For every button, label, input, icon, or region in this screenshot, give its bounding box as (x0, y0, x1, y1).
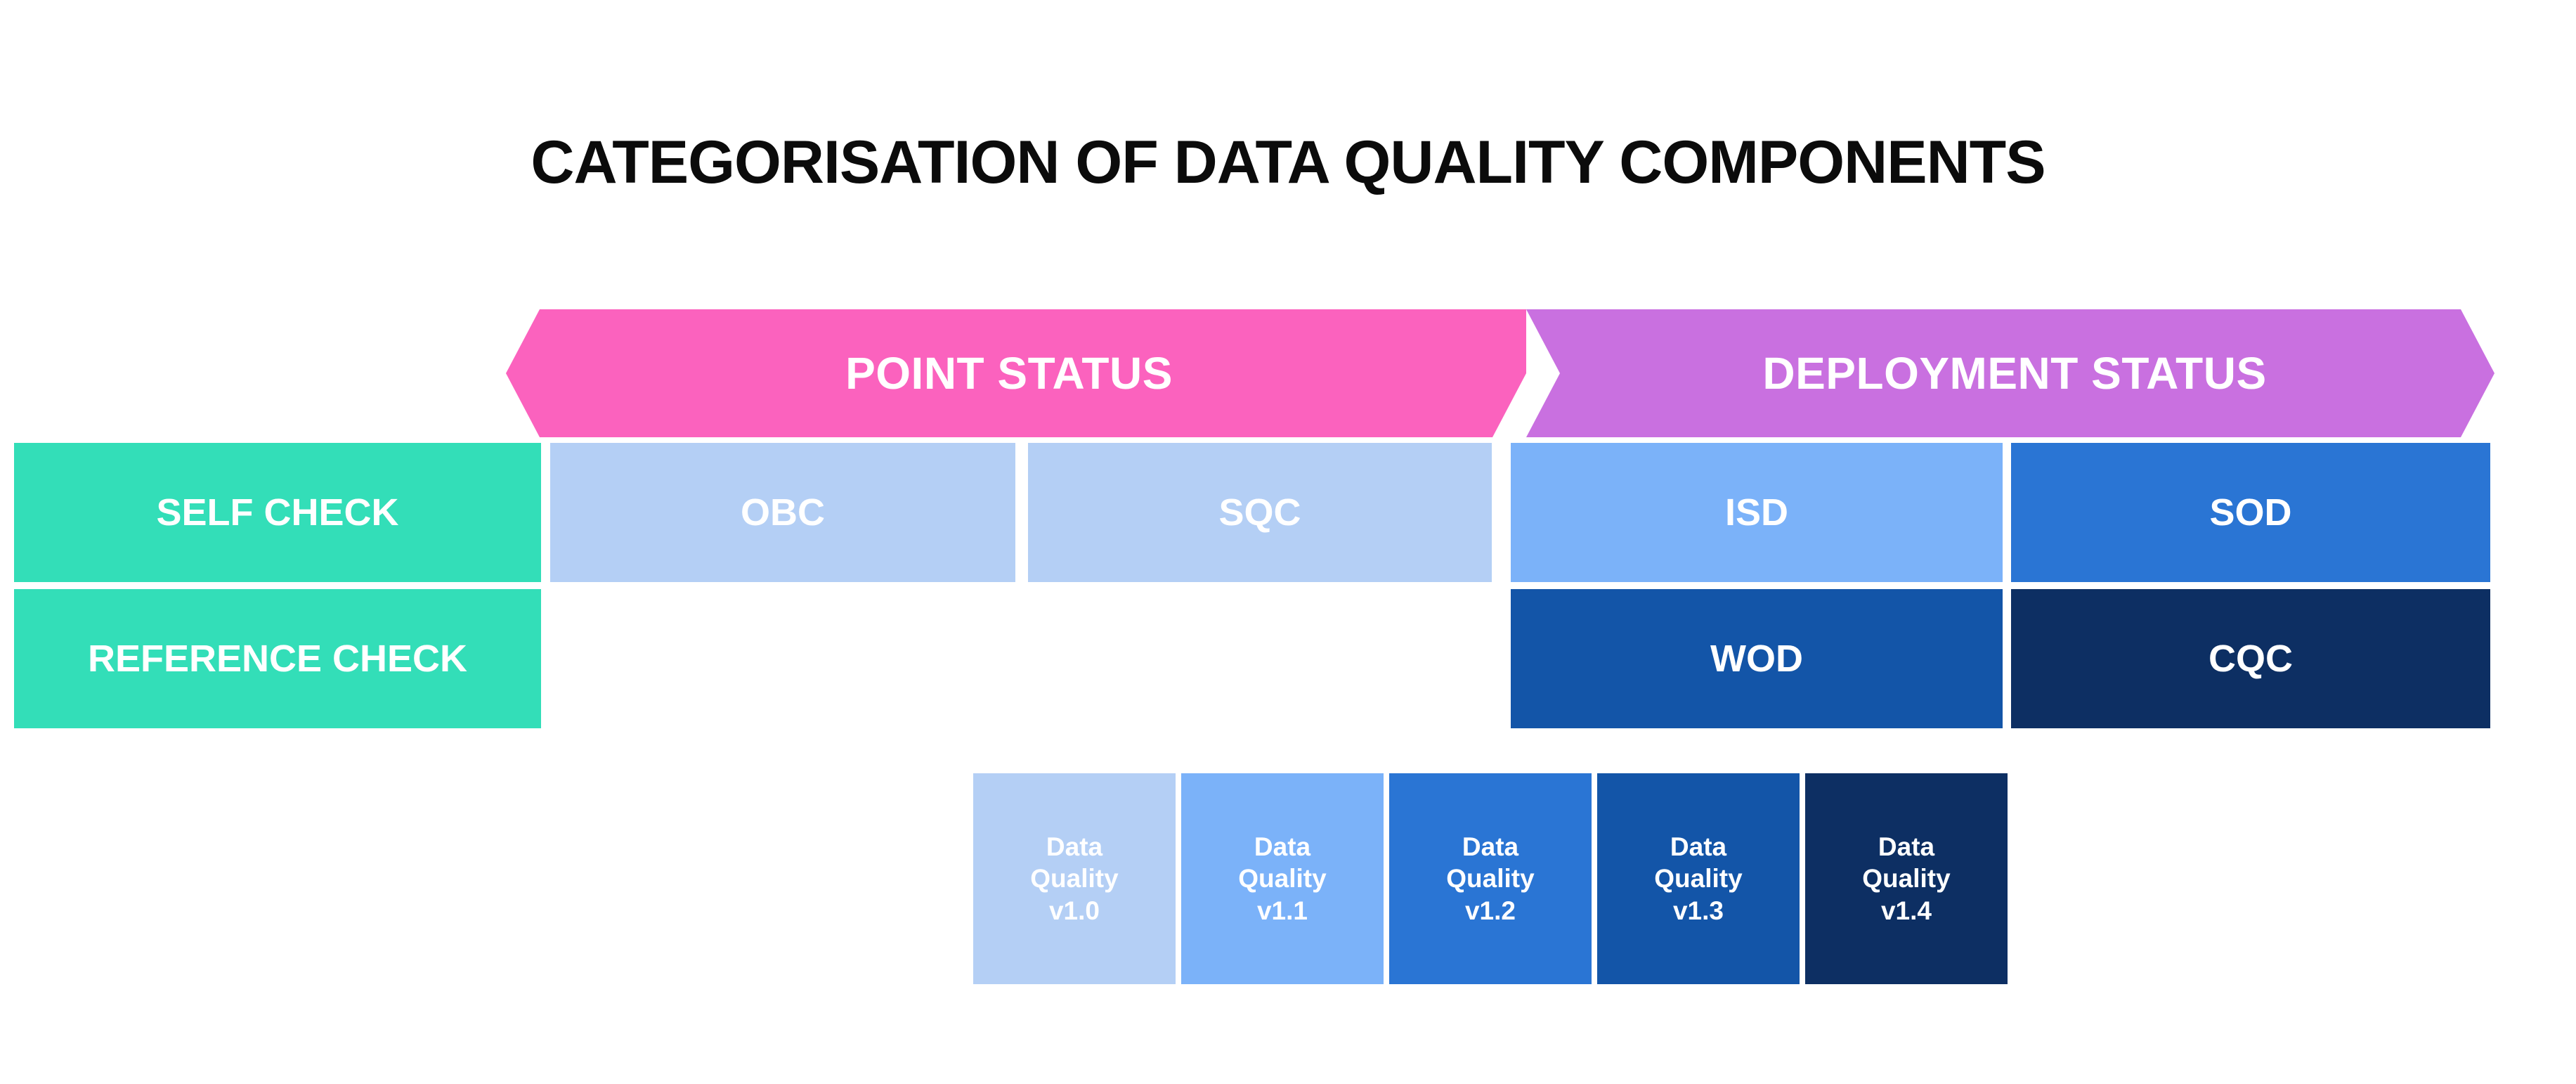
legend: Data Quality v1.0 Data Quality v1.1 Data… (973, 773, 2008, 984)
legend-item-v1-3-line1: Data (1670, 831, 1726, 863)
banner-point-status: POINT STATUS (506, 309, 1526, 437)
cell-sqc: SQC (1028, 443, 1492, 582)
diagram-canvas: CATEGORISATION OF DATA QUALITY COMPONENT… (0, 0, 2576, 1084)
cell-obc-label: OBC (741, 491, 825, 534)
legend-item-v1-2-line3: v1.2 (1465, 895, 1516, 927)
cell-sqc-label: SQC (1218, 491, 1301, 534)
row-header-reference-check: REFERENCE CHECK (14, 589, 541, 728)
legend-item-v1-0-line1: Data (1046, 831, 1102, 863)
page-title: CATEGORISATION OF DATA QUALITY COMPONENT… (0, 128, 2576, 198)
legend-item-v1-4: Data Quality v1.4 (1805, 773, 2008, 984)
banner-deployment-status: DEPLOYMENT STATUS (1526, 309, 2494, 437)
banner-point-status-label: POINT STATUS (845, 347, 1173, 399)
legend-item-v1-1-line1: Data (1254, 831, 1310, 863)
cell-sod: SOD (2011, 443, 2490, 582)
row-header-reference-check-label: REFERENCE CHECK (88, 637, 467, 680)
legend-item-v1-4-line2: Quality (1862, 863, 1950, 894)
legend-item-v1-3-line3: v1.3 (1673, 895, 1724, 927)
cell-wod: WOD (1511, 589, 2003, 728)
legend-item-v1-3: Data Quality v1.3 (1597, 773, 1800, 984)
cell-cqc: CQC (2011, 589, 2490, 728)
legend-item-v1-4-line1: Data (1878, 831, 1934, 863)
legend-item-v1-2-line2: Quality (1446, 863, 1534, 894)
cell-isd: ISD (1511, 443, 2003, 582)
cell-isd-label: ISD (1725, 491, 1788, 534)
legend-item-v1-0-line2: Quality (1030, 863, 1118, 894)
legend-item-v1-1-line3: v1.1 (1257, 895, 1308, 927)
legend-item-v1-2: Data Quality v1.2 (1389, 773, 1592, 984)
row-header-self-check: SELF CHECK (14, 443, 541, 582)
legend-item-v1-4-line3: v1.4 (1881, 895, 1932, 927)
legend-item-v1-1: Data Quality v1.1 (1181, 773, 1384, 984)
legend-item-v1-0-line3: v1.0 (1049, 895, 1100, 927)
legend-item-v1-1-line2: Quality (1238, 863, 1326, 894)
legend-item-v1-3-line2: Quality (1654, 863, 1742, 894)
banner-deployment-status-label: DEPLOYMENT STATUS (1762, 347, 2266, 399)
cell-sod-label: SOD (2209, 491, 2291, 534)
cell-obc: OBC (550, 443, 1015, 582)
cell-wod-label: WOD (1710, 637, 1803, 680)
cell-cqc-label: CQC (2209, 637, 2293, 680)
row-header-self-check-label: SELF CHECK (156, 491, 398, 534)
legend-item-v1-2-line1: Data (1462, 831, 1518, 863)
legend-item-v1-0: Data Quality v1.0 (973, 773, 1176, 984)
